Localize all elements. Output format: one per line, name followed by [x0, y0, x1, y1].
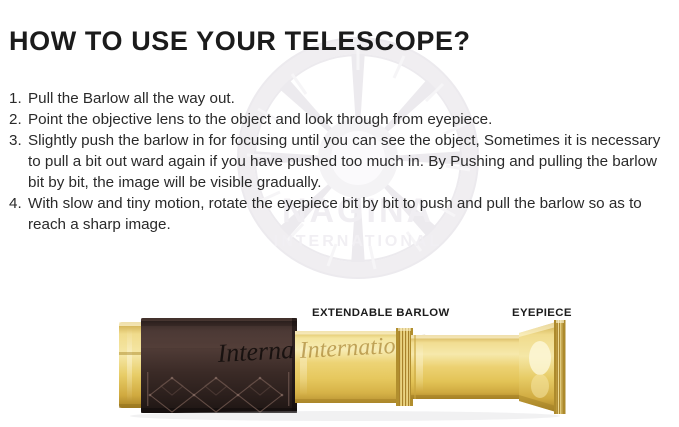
list-item-text: Point the objective lens to the object a…: [28, 109, 671, 130]
telescope-product-image: International: [0, 300, 679, 427]
list-item-number: 2.: [9, 109, 28, 130]
page-title: HOW TO USE YOUR TELESCOPE?: [9, 26, 471, 57]
list-item-number: 3.: [9, 130, 28, 151]
knurled-ring-barlow: [396, 328, 413, 406]
list-item-number: 4.: [9, 193, 28, 214]
instruction-list: 1. Pull the Barlow all the way out. 2. P…: [9, 88, 671, 235]
callout-label-extendable-barlow: EXTENDABLE BARLOW: [312, 307, 450, 319]
list-item: 3. Slightly push the barlow in for focus…: [9, 130, 671, 193]
eyepiece-assembly: [519, 320, 566, 414]
barlow-draw-tube-2: [411, 335, 519, 399]
list-item-text: Pull the Barlow all the way out.: [28, 88, 671, 109]
callout-label-eyepiece: EYEPIECE: [512, 307, 572, 319]
list-item: 2. Point the objective lens to the objec…: [9, 109, 671, 130]
list-item-text: With slow and tiny motion, rotate the ey…: [28, 193, 671, 235]
objective-end-cap: [119, 322, 143, 408]
list-item-number: 1.: [9, 88, 28, 109]
watermark-brand-line2: INTERNATIONAL: [274, 233, 442, 250]
list-item-text: Slightly push the barlow in for focusing…: [28, 130, 671, 193]
list-item: 1. Pull the Barlow all the way out.: [9, 88, 671, 109]
product-instruction-page: NAGINA INTERNATIONAL HOW TO USE YOUR TEL…: [0, 0, 679, 427]
list-item: 4. With slow and tiny motion, rotate the…: [9, 193, 671, 235]
